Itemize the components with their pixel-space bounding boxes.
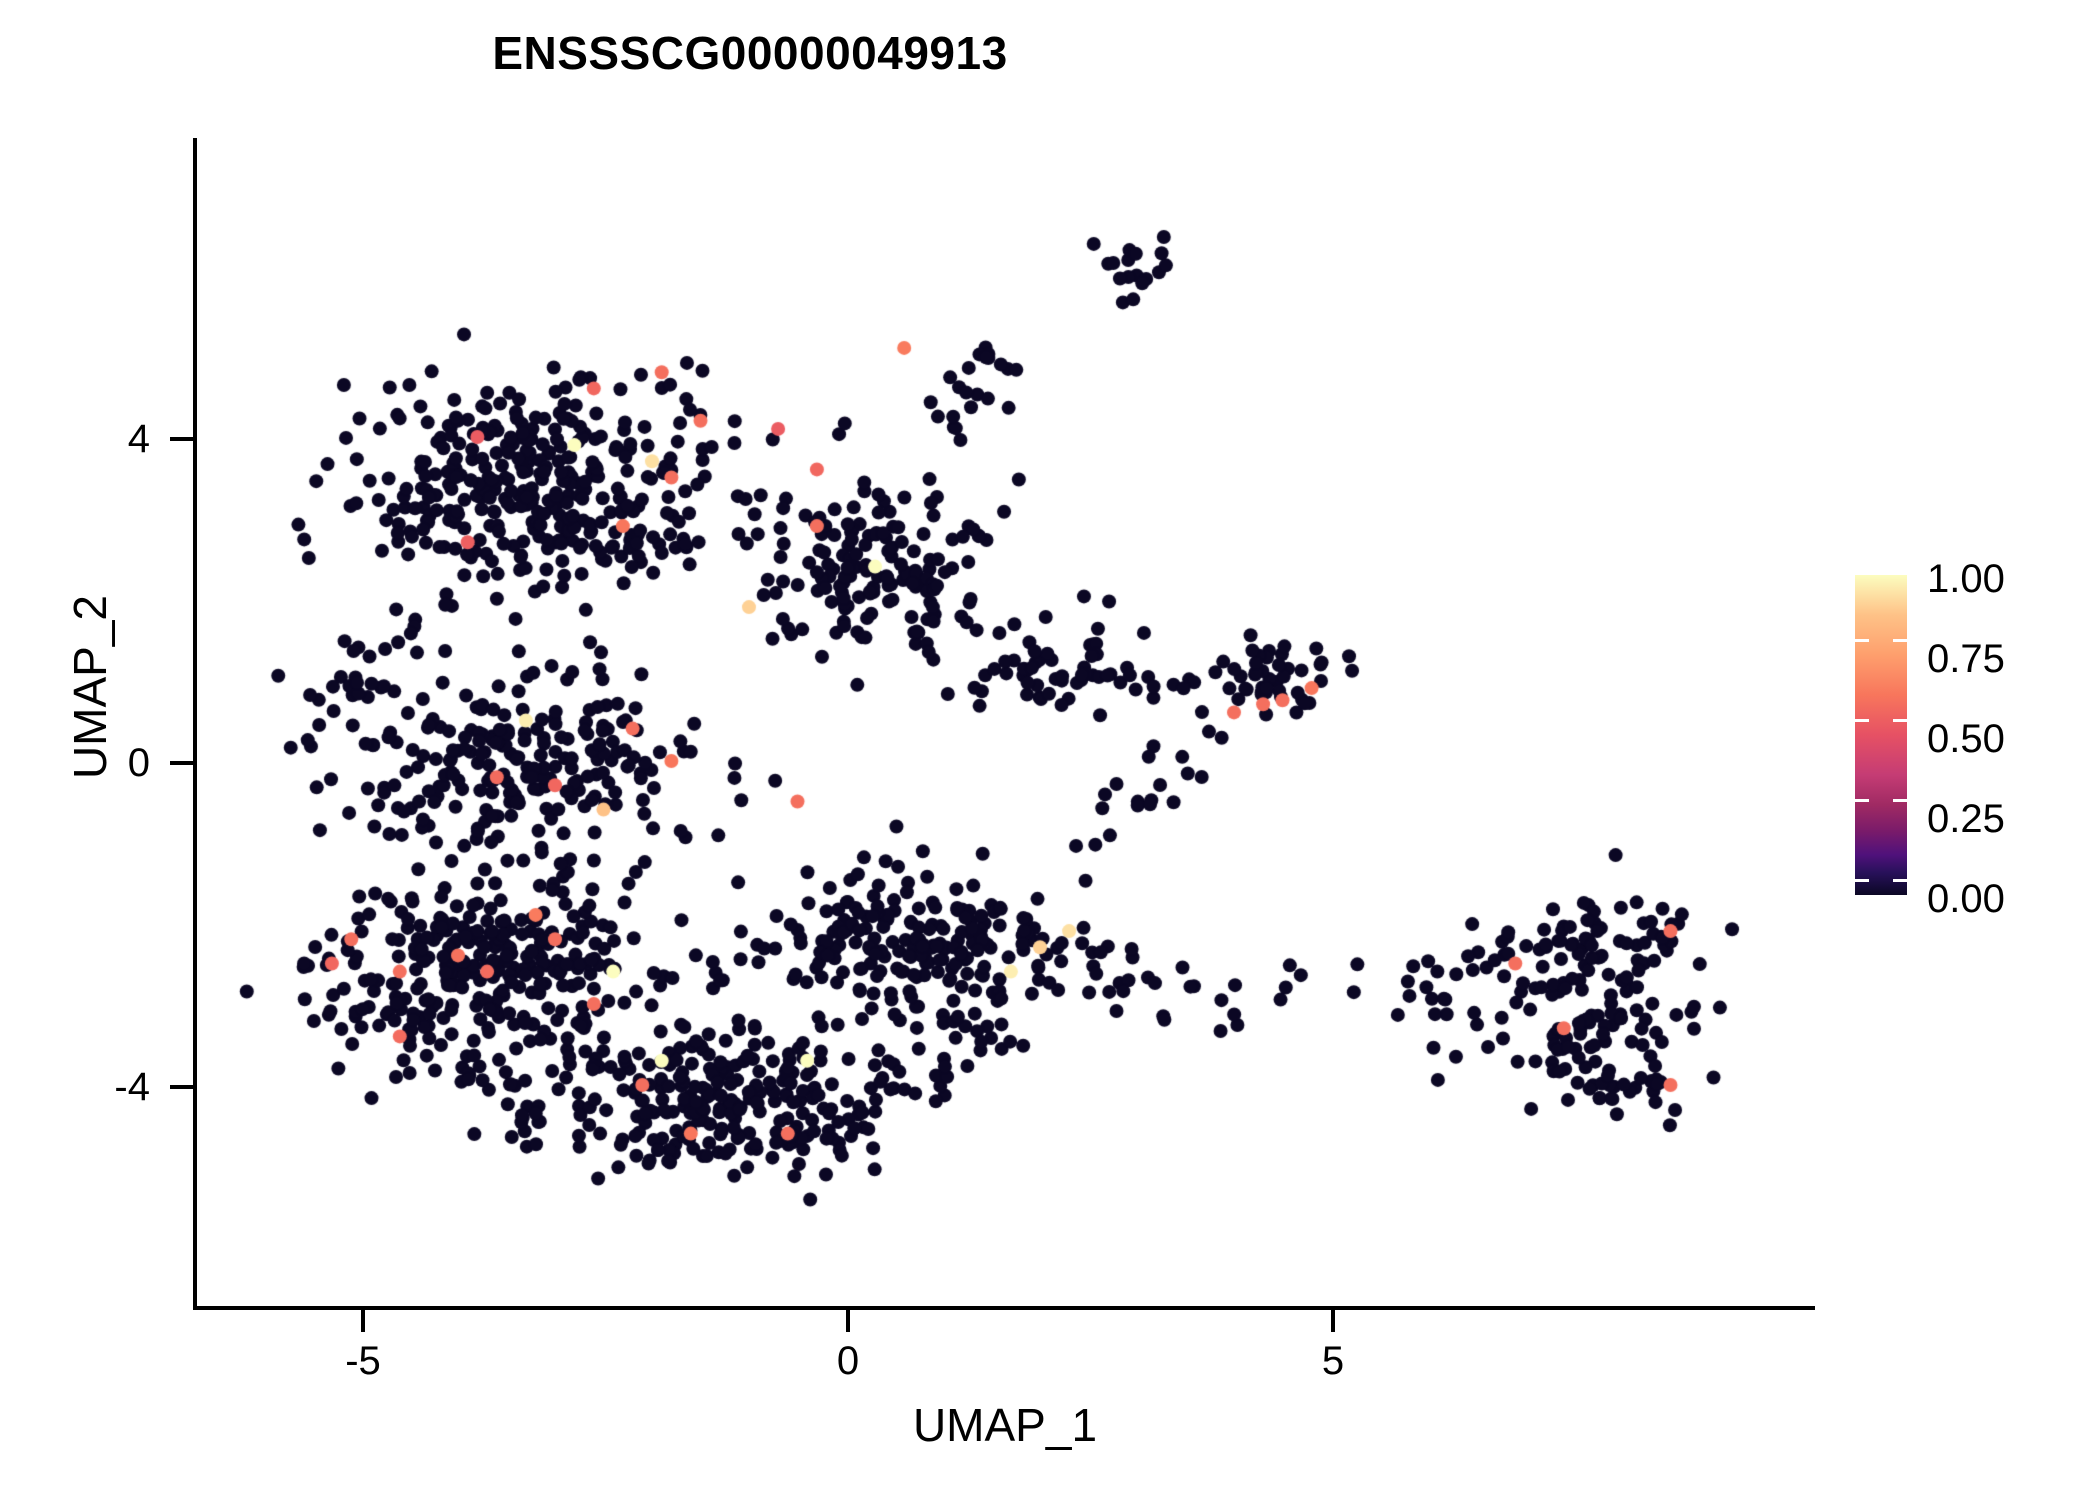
colorbar-label-050: 0.50 bbox=[1927, 719, 2067, 759]
x-tick-mark bbox=[1331, 1308, 1335, 1332]
y-tick-mark bbox=[170, 1085, 194, 1089]
colorbar-tick bbox=[1855, 879, 1869, 882]
colorbar-tick bbox=[1893, 719, 1907, 722]
colorbar-gradient bbox=[1855, 575, 1907, 895]
colorbar-tick bbox=[1855, 639, 1869, 642]
colorbar-legend: 1.00 0.75 0.50 0.25 0.00 bbox=[1855, 575, 2055, 905]
y-axis-title: UMAP_2 bbox=[63, 307, 117, 1067]
x-tick-label-5: 5 bbox=[1253, 1340, 1413, 1382]
colorbar-tick bbox=[1893, 879, 1907, 882]
colorbar-label-100: 1.00 bbox=[1927, 559, 2067, 599]
colorbar-tick bbox=[1893, 799, 1907, 802]
x-tick-label-0: 0 bbox=[768, 1340, 928, 1382]
x-tick-mark bbox=[846, 1308, 850, 1332]
y-tick-label-n4: -4 bbox=[30, 1067, 150, 1107]
page-title: ENSSSCG00000049913 bbox=[0, 26, 1500, 80]
colorbar-tick bbox=[1855, 719, 1869, 722]
colorbar-tick bbox=[1893, 639, 1907, 642]
x-axis-line bbox=[193, 1306, 1815, 1310]
x-tick-mark bbox=[361, 1308, 365, 1332]
colorbar-label-000: 0.00 bbox=[1927, 879, 2067, 919]
scatter-canvas bbox=[195, 140, 1815, 1305]
chart-root: ENSSSCG00000049913 4 0 -4 -5 0 5 UMAP_1 … bbox=[0, 0, 2100, 1500]
plot-panel bbox=[195, 140, 1815, 1305]
x-axis-title: UMAP_1 bbox=[195, 1398, 1815, 1452]
x-tick-label-n5: -5 bbox=[283, 1340, 443, 1382]
y-tick-mark bbox=[170, 761, 194, 765]
colorbar-label-075: 0.75 bbox=[1927, 639, 2067, 679]
colorbar-label-025: 0.25 bbox=[1927, 799, 2067, 839]
y-tick-mark bbox=[170, 437, 194, 441]
y-axis-line bbox=[193, 138, 197, 1310]
colorbar-tick bbox=[1855, 799, 1869, 802]
